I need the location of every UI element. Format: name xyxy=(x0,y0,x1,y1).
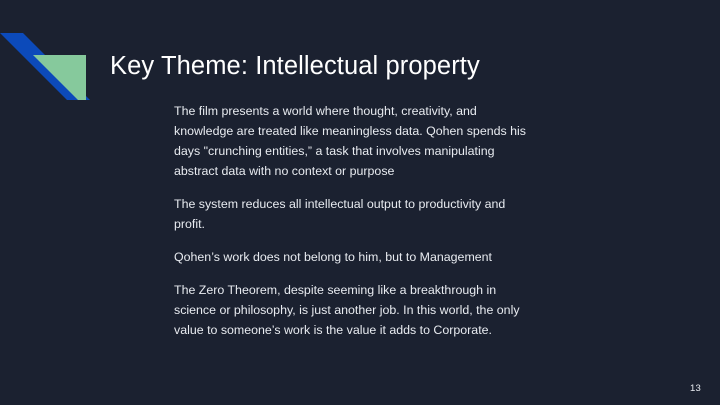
page-title: Key Theme: Intellectual property xyxy=(110,51,670,82)
paragraph: Qohen’s work does not belong to him, but… xyxy=(174,247,532,267)
paragraph: The system reduces all intellectual outp… xyxy=(174,194,532,234)
paragraph: The Zero Theorem, despite seeming like a… xyxy=(174,280,532,340)
page-number: 13 xyxy=(690,383,701,394)
chevron-blue-shape xyxy=(0,33,90,100)
body-content: The film presents a world where thought,… xyxy=(174,101,532,340)
slide-canvas: Key Theme: Intellectual property The fil… xyxy=(0,0,720,405)
paragraph: The film presents a world where thought,… xyxy=(174,101,532,181)
chevron-green-shape xyxy=(33,55,86,100)
